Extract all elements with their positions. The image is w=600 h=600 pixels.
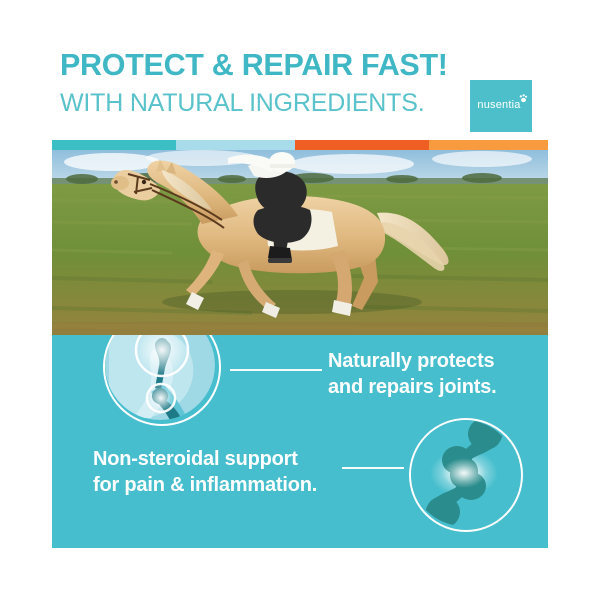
feature-joints-line1: Naturally protects: [328, 350, 494, 372]
marketing-poster: PROTECT & REPAIR FAST! WITH NATURAL INGR…: [0, 0, 600, 600]
strip-segment-teal: [52, 140, 176, 150]
horse-leg-joint-icon: [103, 335, 221, 426]
feature-pain-line2: for pain & inflammation.: [93, 474, 317, 496]
paw-icon: [519, 94, 528, 103]
logo-wrap: nusentia: [473, 94, 529, 118]
brand-name: nusentia: [473, 99, 525, 111]
accent-color-strip: [52, 140, 548, 150]
feature-joints-connector: [230, 369, 322, 371]
hero-photo-horse: [52, 150, 548, 335]
feature-pain-text: Non-steroidal support for pain & inflamm…: [93, 446, 317, 498]
brand-logo-badge: nusentia: [470, 80, 532, 132]
feature-pain-connector: [342, 467, 404, 469]
strip-segment-orange-red: [295, 140, 429, 150]
feature-pain-line1: Non-steroidal support: [93, 448, 298, 470]
strip-segment-light-blue: [176, 140, 295, 150]
feature-joints-line2: and repairs joints.: [328, 376, 496, 398]
strip-segment-light-orange: [429, 140, 548, 150]
page-title: PROTECT & REPAIR FAST!: [60, 48, 448, 82]
page-subtitle: WITH NATURAL INGREDIENTS.: [60, 88, 424, 118]
feature-joints-text: Naturally protects and repairs joints.: [328, 348, 496, 400]
bone-joint-icon: [409, 418, 523, 532]
features-panel: Naturally protects and repairs joints. N…: [52, 335, 548, 548]
